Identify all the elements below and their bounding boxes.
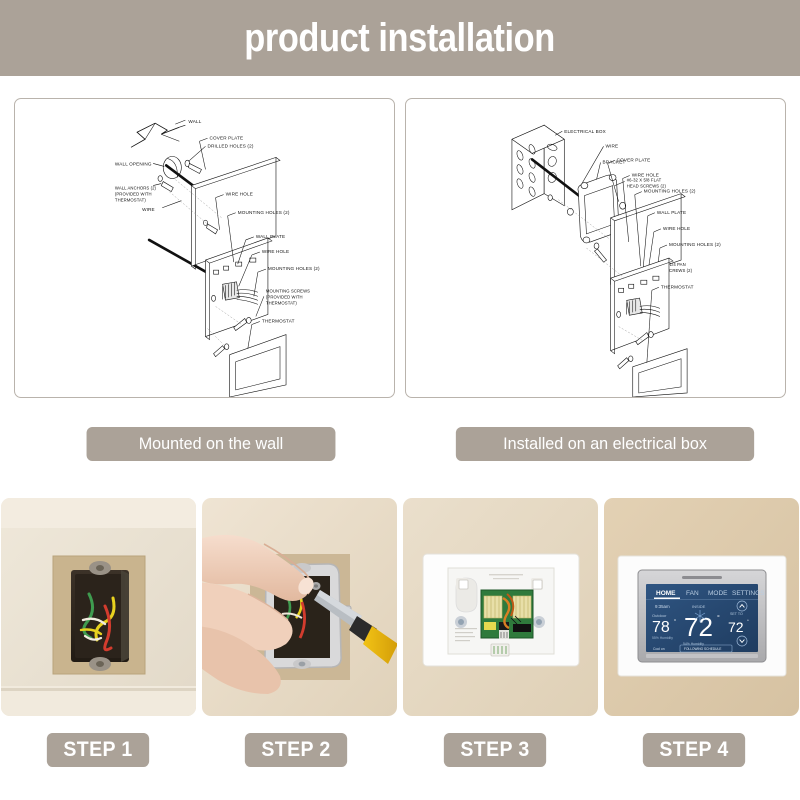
label-wire-hole-1: WIRE HOLE xyxy=(226,192,253,197)
thermostat-setto-label: SET TO xyxy=(730,612,743,616)
thermostat-setto-degree: ° xyxy=(747,619,749,624)
thermostat-time: 9:35am xyxy=(655,604,670,609)
label-mounting-holes-r1: MOUNTING HOLES (2) xyxy=(644,189,696,194)
label-wire-hole-2: WIRE HOLE xyxy=(262,249,289,254)
thermostat-inside-label: INSIDE xyxy=(692,604,706,609)
label-wire: WIRE xyxy=(142,207,155,212)
header-banner: product installation xyxy=(0,0,800,76)
wall-plate-hole xyxy=(212,295,216,301)
drilled-holes-shape xyxy=(185,160,202,173)
photo-open-electrical-box xyxy=(1,498,196,716)
mounting-screw-shape-2 xyxy=(214,344,229,357)
label-wall-opening: WALL OPENING xyxy=(115,161,152,166)
photo-wall-plate-wired xyxy=(403,498,598,716)
label-flat-screws-1: #6-32 X 5/8 FLAT xyxy=(627,178,662,183)
label-thermostat: THERMOSTAT xyxy=(262,319,295,324)
step2-illustration xyxy=(202,498,397,716)
electrical-box-shape xyxy=(512,125,564,210)
thermostat-outdoor-label: Outdoor xyxy=(652,613,667,618)
thermostat-tab-home: HOME xyxy=(656,590,676,597)
step-badge-3: STEP 3 xyxy=(444,733,546,767)
caption-installed-electrical-box: Installed on an electrical box xyxy=(456,427,754,461)
step1-illustration xyxy=(1,498,196,716)
label-mounting-holes-1: MOUNTING HOLES (2) xyxy=(238,210,290,215)
thermostat-outdoor-humidity: 55% Humidity xyxy=(652,636,673,640)
pan-head-screw-shape-2 xyxy=(618,356,633,369)
wall-symbol xyxy=(131,123,185,147)
thermostat-cool-on: Cool on xyxy=(653,647,665,651)
label-wall-plate-r: WALL PLATE xyxy=(657,210,686,215)
label-wall: WALL xyxy=(188,119,201,124)
label-wire-hole-r1: WIRE HOLE xyxy=(632,173,659,178)
thermostat-shape xyxy=(230,335,286,397)
caption-mounted-on-wall: Mounted on the wall xyxy=(87,427,336,461)
mounted-on-wall-drawing: WALL WALL OPENING DRILLED HOLES (2) WALL… xyxy=(15,99,394,397)
thermostat-outdoor-temp: 78 xyxy=(652,619,670,636)
label-mounting-holes-r2: MOUNTING HOLES (2) xyxy=(669,242,721,247)
page-title: product installation xyxy=(245,16,556,61)
thermostat-setto-temp: 72 xyxy=(728,619,744,635)
thermostat-schedule-button: FOLLOWING SCHEDULE xyxy=(684,647,721,651)
thermostat-tab-settings: SETTINGS xyxy=(732,590,765,597)
thermostat-center-humidity: 54% Humidity xyxy=(683,642,704,646)
electrical-box-drawing: ELECTRICAL BOX WIRE BRACKET #6-32 X 5/8 … xyxy=(406,99,785,397)
thermostat-outdoor-degree: ° xyxy=(674,619,676,625)
step-badge-2: STEP 2 xyxy=(245,733,347,767)
label-mounting-screws-3: THERMOSTAT) xyxy=(266,300,297,305)
step-badge-4: STEP 4 xyxy=(643,733,745,767)
label-wire-hole-r2: WIRE HOLE xyxy=(663,226,690,231)
flat-head-screw-shape xyxy=(594,243,606,262)
step-badges: STEP 1 STEP 2 STEP 3 STEP 4 xyxy=(0,733,800,769)
label-thermostat-r: THERMOSTAT xyxy=(661,284,694,289)
mounted-on-wall-panel: WALL WALL OPENING DRILLED HOLES (2) WALL… xyxy=(14,98,395,398)
label-wall-anchors-1: WALL ANCHORS (2) xyxy=(115,186,157,191)
thermostat-inside-temp: 72 xyxy=(684,612,713,642)
label-wire: WIRE xyxy=(606,143,619,148)
label-wall-anchors-2: (PROVIDED WITH xyxy=(115,192,152,197)
label-mounting-holes-2: MOUNTING HOLES (2) xyxy=(268,266,320,271)
step3-illustration xyxy=(403,498,598,716)
label-electrical-box: ELECTRICAL BOX xyxy=(564,129,606,134)
step-photo-row: HOME FAN MODE SETTINGS 9:35am Outdoor 78… xyxy=(0,498,800,716)
thermostat-shape-r xyxy=(633,349,687,397)
label-mounting-screws-2: (PROVIDED WITH xyxy=(266,294,303,299)
caption-bars: Mounted on the wall Installed on an elec… xyxy=(0,427,800,463)
label-cover-plate-r: COVER PLATE xyxy=(617,157,651,162)
step4-illustration: HOME FAN MODE SETTINGS 9:35am Outdoor 78… xyxy=(604,498,799,716)
thermostat-tab-fan: FAN xyxy=(686,590,699,597)
label-wall-anchors-3: THERMOSTAT) xyxy=(115,198,146,203)
label-cover-plate: COVER PLATE xyxy=(210,135,244,140)
electrical-box-panel: ELECTRICAL BOX WIRE BRACKET #6-32 X 5/8 … xyxy=(405,98,786,398)
cover-plate-hole xyxy=(203,220,207,225)
photo-thermostat-installed: HOME FAN MODE SETTINGS 9:35am Outdoor 78… xyxy=(604,498,799,716)
thermostat-tab-mode: MODE xyxy=(708,590,728,597)
thermostat-inside-degree: ° xyxy=(717,614,720,622)
photo-hand-screwdriver-bracket xyxy=(202,498,397,716)
label-drilled-holes: DRILLED HOLES (2) xyxy=(208,143,254,148)
step-badge-1: STEP 1 xyxy=(47,733,149,767)
label-wall-plate: WALL PLATE xyxy=(256,234,285,239)
label-mounting-screws-1: MOUNTING SCREWS xyxy=(266,288,310,293)
diagram-panels: WALL WALL OPENING DRILLED HOLES (2) WALL… xyxy=(14,98,786,398)
